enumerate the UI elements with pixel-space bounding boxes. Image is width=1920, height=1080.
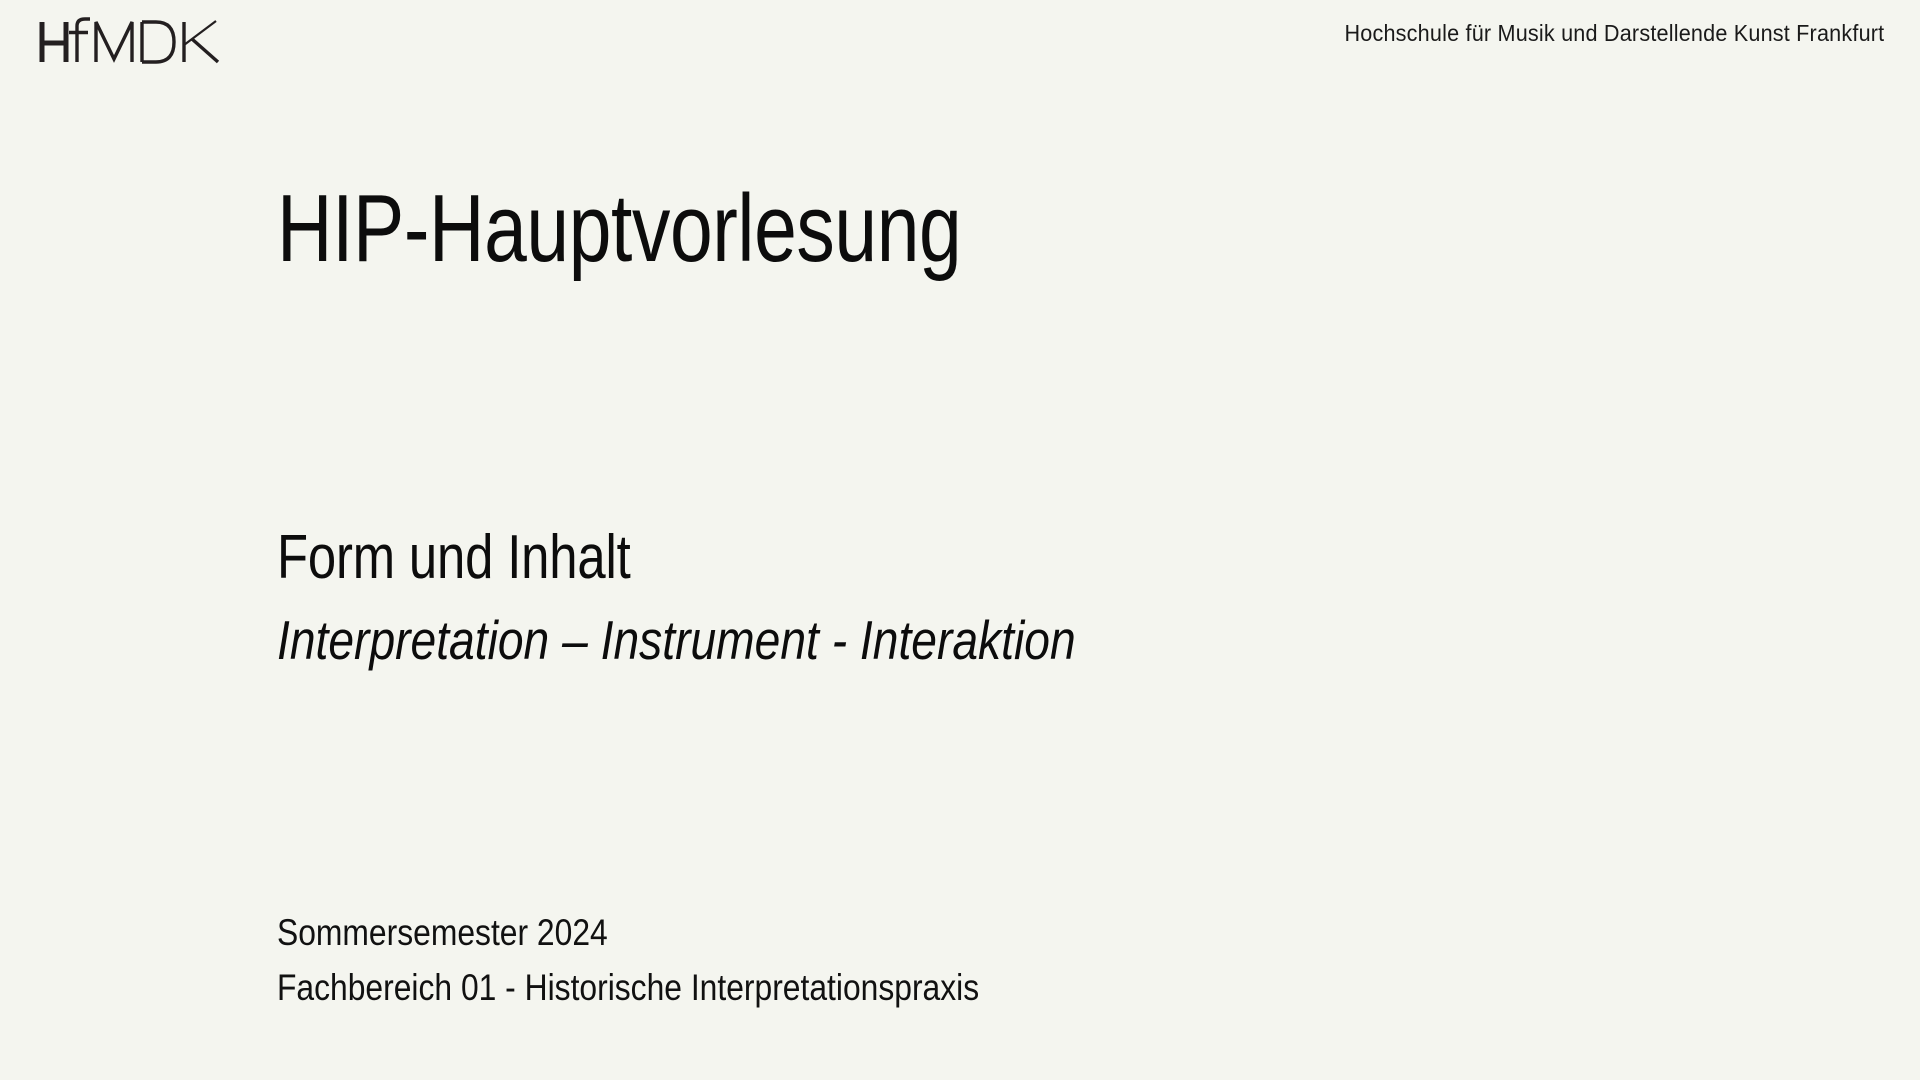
- slide-body: HIP-Hauptvorlesung Form und Inhalt Inter…: [277, 0, 1920, 1080]
- section-heading: Form und Inhalt: [277, 527, 631, 589]
- page-title: HIP-Hauptvorlesung: [277, 181, 961, 277]
- title-slide: Hochschule für Musik und Darstellende Ku…: [0, 0, 1920, 1080]
- section-subheading: Interpretation – Instrument - Interaktio…: [277, 613, 1076, 668]
- hfmdk-wordmark-logo: [38, 12, 238, 68]
- department-label: Fachbereich 01 - Historische Interpretat…: [277, 960, 979, 1015]
- slide-footer: Sommersemester 2024 Fachbereich 01 - His…: [277, 905, 1093, 1015]
- semester-label: Sommersemester 2024: [277, 905, 979, 960]
